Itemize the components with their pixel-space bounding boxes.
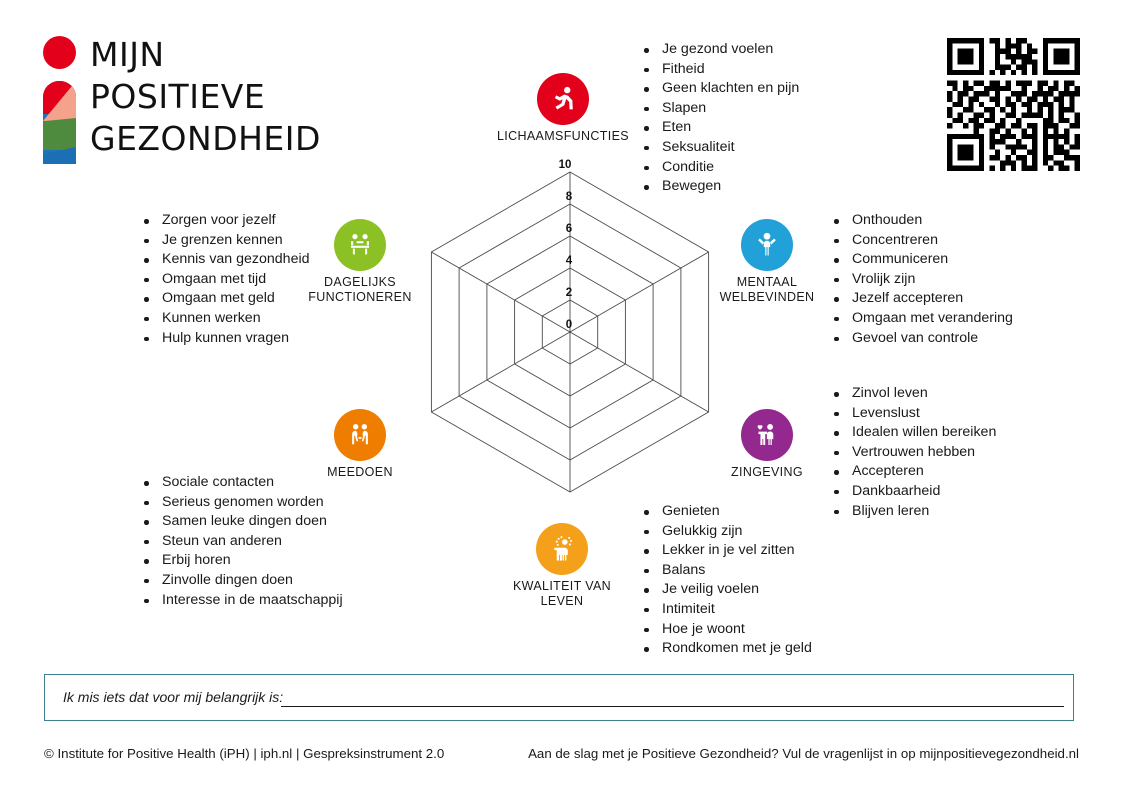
domain-items-zingeving: Zinvol leven Levenslust Idealen willen b… [824,384,996,521]
list-item: Dankbaarheid [824,482,996,502]
list-item: Sociale contacten [134,473,343,493]
list-item: Omgaan met geld [134,289,310,309]
list-item: Fitheid [634,60,799,80]
list-item: Vrolijk zijn [824,270,1013,290]
list-item: Je veilig voelen [634,580,812,600]
list-item: Genieten [634,502,812,522]
list-item: Communiceren [824,250,1013,270]
list-item: Omgaan met tijd [134,270,310,290]
logo-bar-icon [43,81,76,164]
list-item: Vertrouwen hebben [824,443,996,463]
list-item: Conditie [634,158,799,178]
axis-tick-0: 0 [558,319,580,331]
axis-tick-8: 8 [558,191,580,203]
running-person-icon [537,73,589,125]
person-with-heart-icon [741,409,793,461]
list-item: Rondkomen met je geld [634,639,812,659]
list-item: Idealen willen bereiken [824,423,996,443]
list-item: Levenslust [824,404,996,424]
list-item: Omgaan met verandering [824,309,1013,329]
item-list: Je gezond voelen Fitheid Geen klachten e… [634,40,799,197]
list-item: Interesse in de maatschappij [134,591,343,611]
list-item: Geen klachten en pijn [634,79,799,99]
axis-tick-2: 2 [558,287,580,299]
domain-items-mentaal-welbevinden: Onthouden Concentreren Communiceren Vrol… [824,211,1013,348]
list-item: Blijven leren [824,502,996,522]
logo-i-mark-icon [43,36,77,164]
domain-caption: KWALITEIT VAN LEVEN [490,579,634,608]
item-list: Genieten Gelukkig zijn Lekker in je vel … [634,502,812,659]
list-item: Lekker in je vel zitten [634,541,812,561]
item-list: Onthouden Concentreren Communiceren Vrol… [824,211,1013,348]
footer-copyright: © Institute for Positive Health (iPH) | … [44,746,444,761]
domain-node-meedoen[interactable]: MEEDOEN [300,409,420,480]
item-list: Zinvol leven Levenslust Idealen willen b… [824,384,996,521]
item-list: Sociale contacten Serieus genomen worden… [134,473,343,610]
domain-caption: MENTAAL WELBEVINDEN [707,275,827,304]
missing-topic-input-line[interactable] [281,706,1064,707]
logo-segment-green [43,118,76,150]
list-item: Serieus genomen worden [134,493,343,513]
list-item: Onthouden [824,211,1013,231]
list-item: Kennis van gezondheid [134,250,310,270]
list-item: Seksualiteit [634,138,799,158]
domain-items-meedoen: Sociale contacten Serieus genomen worden… [134,473,343,610]
list-item: Accepteren [824,462,996,482]
logo-line-2: POSITIEVE [90,76,345,118]
domain-caption: LICHAAMSFUNCTIES [493,129,633,144]
list-item: Samen leuke dingen doen [134,512,343,532]
domain-node-mentaal-welbevinden[interactable]: MENTAAL WELBEVINDEN [707,219,827,304]
list-item: Hoe je woont [634,620,812,640]
person-with-sun-icon [536,523,588,575]
list-item: Gelukkig zijn [634,522,812,542]
list-item: Zinvolle dingen doen [134,571,343,591]
list-item: Concentreren [824,231,1013,251]
domain-node-zingeving[interactable]: ZINGEVING [707,409,827,480]
brand-logo: MIJN POSITIEVE GEZONDHEID [43,36,343,164]
axis-tick-4: 4 [558,255,580,267]
list-item: Zinvol leven [824,384,996,404]
domain-node-kwaliteit-van-leven[interactable]: KWALITEIT VAN LEVEN [490,523,634,608]
logo-wordmark: MIJN POSITIEVE GEZONDHEID [90,34,345,160]
list-item: Steun van anderen [134,532,343,552]
list-item: Intimiteit [634,600,812,620]
domain-caption: DAGELIJKS FUNCTIONEREN [300,275,420,304]
domain-items-dagelijks-functioneren: Zorgen voor jezelf Je grenzen kennen Ken… [134,211,310,348]
list-item: Eten [634,118,799,138]
domain-items-lichaamsfuncties: Je gezond voelen Fitheid Geen klachten e… [634,40,799,197]
domain-node-dagelijks-functioneren[interactable]: DAGELIJKS FUNCTIONEREN [300,219,420,304]
domain-caption: ZINGEVING [707,465,827,480]
two-people-at-table-icon [334,219,386,271]
two-people-holding-hands-icon [334,409,386,461]
missing-topic-label: Ik mis iets dat voor mij belangrijk is: [63,689,283,705]
poster-canvas: MIJN POSITIEVE GEZONDHEID [0,0,1125,795]
list-item: Erbij horen [134,551,343,571]
axis-tick-6: 6 [558,223,580,235]
logo-line-3: GEZONDHEID [90,118,345,160]
list-item: Zorgen voor jezelf [134,211,310,231]
list-item: Balans [634,561,812,581]
logo-dot-icon [43,36,76,69]
list-item: Kunnen werken [134,309,310,329]
list-item: Gevoel van controle [824,329,1013,349]
item-list: Zorgen voor jezelf Je grenzen kennen Ken… [134,211,310,348]
list-item: Bewegen [634,177,799,197]
domain-node-lichaamsfuncties[interactable]: LICHAAMSFUNCTIES [493,73,633,144]
footer-call-to-action: Aan de slag met je Positieve Gezondheid?… [528,746,1079,761]
logo-line-1: MIJN [90,34,345,76]
list-item: Hulp kunnen vragen [134,329,310,349]
person-arms-raised-icon [741,219,793,271]
list-item: Slapen [634,99,799,119]
list-item: Jezelf accepteren [824,289,1013,309]
missing-topic-box[interactable]: Ik mis iets dat voor mij belangrijk is: [44,674,1074,721]
list-item: Je gezond voelen [634,40,799,60]
qr-code-icon[interactable] [947,38,1080,171]
axis-tick-10: 10 [554,159,576,171]
list-item: Je grenzen kennen [134,231,310,251]
domain-items-kwaliteit-van-leven: Genieten Gelukkig zijn Lekker in je vel … [634,502,812,659]
